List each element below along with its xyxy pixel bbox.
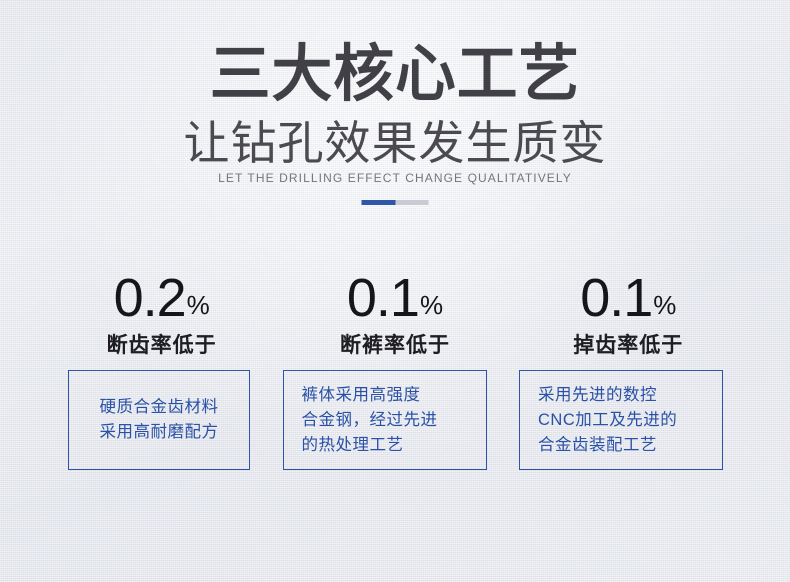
- stat-value-3: 0.1: [580, 268, 652, 328]
- page-subtitle-english: LET THE DRILLING EFFECT CHANGE QUALITATI…: [0, 170, 790, 186]
- divider-accent-segment: [362, 200, 396, 205]
- page-title: 三大核心工艺: [8, 40, 782, 110]
- feature-boxes-row: 硬质合金齿材料 采用高耐磨配方 裤体采用高强度 合金钢，经过先进 的热处理工艺 …: [68, 370, 723, 470]
- stat-value-group-3: 0.1%: [512, 268, 745, 328]
- stat-label-1: 断齿率低于: [45, 332, 278, 359]
- stat-label-2: 断裤率低于: [278, 332, 511, 359]
- stat-value-group-1: 0.2%: [45, 268, 278, 328]
- stat-value-group-2: 0.1%: [278, 268, 511, 328]
- feature-box-3: 采用先进的数控 CNC加工及先进的 合金齿装配工艺: [519, 370, 723, 470]
- feature-box-2: 裤体采用高强度 合金钢，经过先进 的热处理工艺: [283, 370, 487, 470]
- page-subtitle: 让钻孔效果发生质变: [0, 116, 790, 170]
- stat-unit-3: %: [653, 290, 676, 320]
- stat-value-2: 0.1: [347, 268, 419, 328]
- feature-box-1-text: 硬质合金齿材料 采用高耐磨配方: [81, 395, 237, 445]
- title-divider: [362, 200, 429, 205]
- stat-unit-1: %: [187, 290, 210, 320]
- stat-label-3: 掉齿率低于: [512, 332, 745, 359]
- stat-column-2: 0.1% 断裤率低于: [278, 268, 511, 359]
- stat-column-3: 0.1% 掉齿率低于: [512, 268, 745, 359]
- stat-column-1: 0.2% 断齿率低于: [45, 268, 278, 359]
- stat-unit-2: %: [420, 290, 443, 320]
- feature-box-1: 硬质合金齿材料 采用高耐磨配方: [68, 370, 250, 470]
- stats-row: 0.2% 断齿率低于 0.1% 断裤率低于 0.1% 掉齿率低于: [45, 268, 745, 359]
- divider-track-segment: [396, 200, 429, 205]
- stat-value-1: 0.2: [114, 268, 186, 328]
- feature-box-3-text: 采用先进的数控 CNC加工及先进的 合金齿装配工艺: [532, 383, 710, 458]
- promo-banner: 三大核心工艺 让钻孔效果发生质变 LET THE DRILLING EFFECT…: [0, 0, 790, 582]
- feature-box-2-text: 裤体采用高强度 合金钢，经过先进 的热处理工艺: [296, 383, 474, 458]
